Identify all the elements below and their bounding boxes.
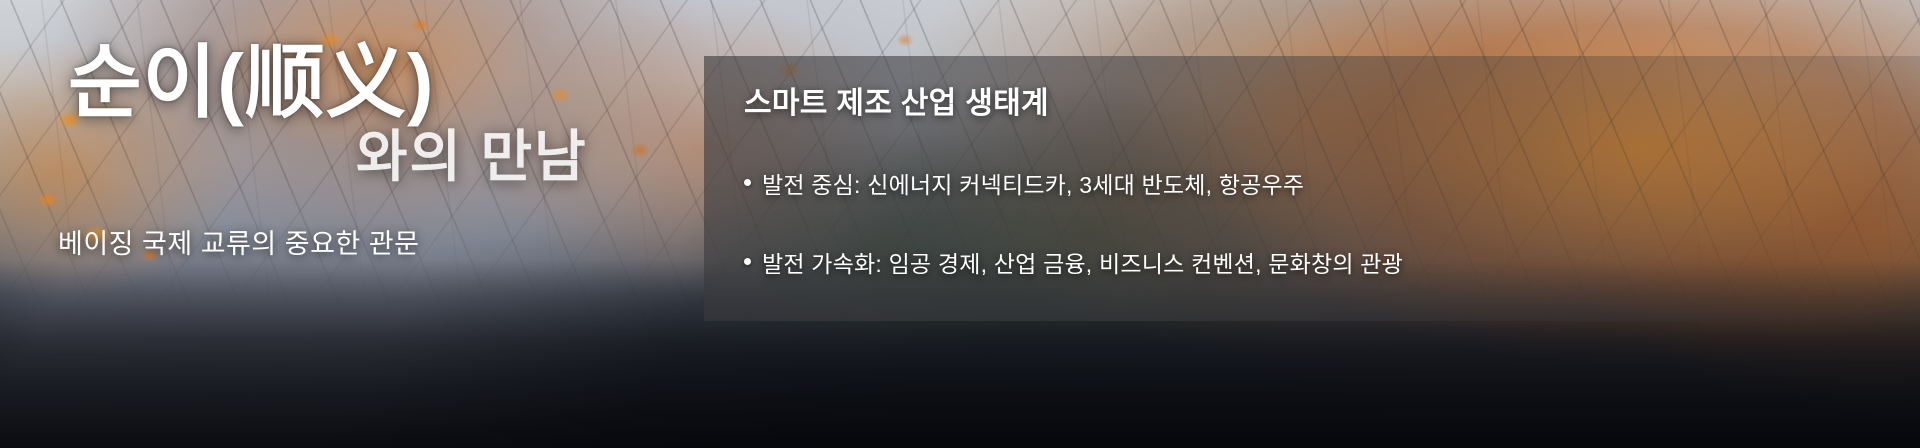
bullet-dot-icon [744,258,751,265]
info-panel-bullet-list: 발전 중심: 신에너지 커넥티드카, 3세대 반도체, 항공우주 발전 가속화:… [742,166,1880,279]
list-item: 발전 중심: 신에너지 커넥티드카, 3세대 반도체, 항공우주 [742,166,1880,200]
info-panel: 스마트 제조 산업 생태계 발전 중심: 신에너지 커넥티드카, 3세대 반도체… [704,56,1920,321]
bullet-text: 발전 가속화: 임공 경제, 산업 금융, 비즈니스 컨벤션, 문화창의 관광 [762,245,1403,279]
list-item: 발전 가속화: 임공 경제, 산업 금융, 비즈니스 컨벤션, 문화창의 관광 [742,245,1880,279]
info-panel-title: 스마트 제조 산업 생태계 [744,78,1880,122]
hero-banner: 순이(顺义) 와의 만남 베이징 국제 교류의 중요한 관문 스마트 제조 산업… [0,0,1920,448]
bullet-text: 발전 중심: 신에너지 커넥티드카, 3세대 반도체, 항공우주 [762,166,1304,200]
bullet-dot-icon [744,179,751,186]
